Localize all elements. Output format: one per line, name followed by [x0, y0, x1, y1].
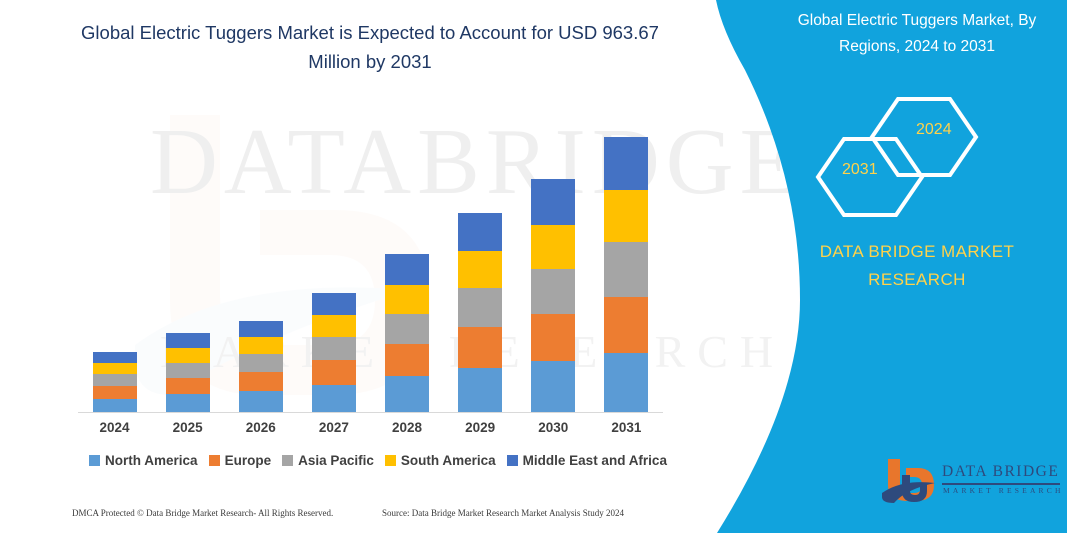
legend-swatch-icon — [385, 455, 396, 466]
x-axis-labels: 20242025202620272028202920302031 — [78, 420, 663, 444]
bar-segment-middle-east-and-africa — [385, 254, 429, 285]
bar-segment-south-america — [385, 285, 429, 314]
bar-segment-north-america — [312, 385, 356, 413]
bar-segment-middle-east-and-africa — [604, 137, 648, 190]
legend-label: Europe — [225, 453, 272, 468]
x-label-2026: 2026 — [225, 420, 297, 435]
brand-line-1: DATA BRIDGE MARKET — [772, 238, 1062, 266]
bar-segment-middle-east-and-africa — [531, 179, 575, 225]
bar-segment-south-america — [93, 363, 137, 374]
company-logo: DATA BRIDGE MARKET RESEARCH — [880, 455, 1067, 515]
bar-segment-asia-pacific — [385, 314, 429, 344]
chart-panel: Global Electric Tuggers Market is Expect… — [0, 0, 740, 533]
bar-segment-middle-east-and-africa — [93, 352, 137, 363]
bar-segment-north-america — [93, 399, 137, 413]
hexagons-icon — [810, 95, 1030, 220]
bar-2031 — [604, 137, 648, 413]
legend-swatch-icon — [89, 455, 100, 466]
x-axis-line — [78, 412, 663, 413]
legend-label: Middle East and Africa — [523, 453, 667, 468]
bar-segment-europe — [531, 314, 575, 361]
hex-2024-label: 2024 — [916, 121, 952, 139]
bar-segment-north-america — [604, 353, 648, 413]
bar-segment-europe — [93, 386, 137, 399]
bar-segment-asia-pacific — [166, 363, 210, 378]
brand-name: DATA BRIDGE MARKET RESEARCH — [772, 238, 1062, 294]
bar-2025 — [166, 333, 210, 413]
bar-2027 — [312, 293, 356, 413]
bar-segment-north-america — [166, 394, 210, 413]
bar-segment-europe — [385, 344, 429, 376]
logo-text-sub: MARKET RESEARCH — [943, 486, 1064, 495]
bar-segment-asia-pacific — [312, 337, 356, 360]
bar-segment-north-america — [239, 391, 283, 413]
bar-segment-south-america — [166, 348, 210, 363]
footer-copyright: DMCA Protected © Data Bridge Market Rese… — [72, 508, 382, 518]
bar-segment-asia-pacific — [93, 374, 137, 386]
x-label-2025: 2025 — [152, 420, 224, 435]
x-label-2030: 2030 — [517, 420, 589, 435]
logo-divider — [942, 483, 1060, 485]
legend-item-north-america[interactable]: North America — [89, 453, 198, 468]
x-label-2031: 2031 — [590, 420, 662, 435]
x-label-2029: 2029 — [444, 420, 516, 435]
data-bridge-b-icon — [880, 455, 938, 505]
footer-source: Source: Data Bridge Market Research Mark… — [382, 508, 692, 518]
legend-swatch-icon — [282, 455, 293, 466]
bar-segment-south-america — [458, 251, 502, 288]
page-title: Global Electric Tuggers Market is Expect… — [60, 18, 680, 76]
bar-2028 — [385, 254, 429, 413]
bar-segment-europe — [604, 297, 648, 353]
bar-2029 — [458, 213, 502, 413]
legend-label: North America — [105, 453, 198, 468]
panel-title: Global Electric Tuggers Market, By Regio… — [772, 8, 1062, 60]
legend-item-south-america[interactable]: South America — [385, 453, 496, 468]
bar-segment-asia-pacific — [458, 288, 502, 327]
chart-legend: North AmericaEuropeAsia PacificSouth Ame… — [78, 453, 678, 468]
bar-segment-middle-east-and-africa — [166, 333, 210, 348]
bar-segment-asia-pacific — [531, 269, 575, 314]
bar-segment-north-america — [385, 376, 429, 413]
bar-segment-south-america — [531, 225, 575, 269]
logo-text-main: DATA BRIDGE — [942, 463, 1059, 481]
infographic-root: DATABRIDGE MARKET RESEARCH Global Electr… — [0, 0, 1067, 533]
legend-swatch-icon — [507, 455, 518, 466]
bar-segment-europe — [239, 372, 283, 391]
bar-segment-south-america — [604, 190, 648, 242]
x-label-2024: 2024 — [79, 420, 151, 435]
bar-segment-europe — [166, 378, 210, 394]
bar-segment-north-america — [458, 368, 502, 413]
legend-item-europe[interactable]: Europe — [209, 453, 272, 468]
bar-2026 — [239, 321, 283, 413]
bar-segment-europe — [312, 360, 356, 385]
legend-item-middle-east-and-africa[interactable]: Middle East and Africa — [507, 453, 667, 468]
panel-content: Global Electric Tuggers Market, By Regio… — [760, 0, 1067, 533]
bar-segment-south-america — [312, 315, 356, 337]
bar-segment-middle-east-and-africa — [239, 321, 283, 337]
brand-line-2: RESEARCH — [772, 266, 1062, 294]
bar-segment-middle-east-and-africa — [312, 293, 356, 315]
legend-item-asia-pacific[interactable]: Asia Pacific — [282, 453, 374, 468]
bar-segment-south-america — [239, 337, 283, 354]
bar-segment-middle-east-and-africa — [458, 213, 502, 251]
hex-2031-label: 2031 — [842, 161, 878, 179]
bar-segment-europe — [458, 327, 502, 368]
legend-label: Asia Pacific — [298, 453, 374, 468]
x-label-2027: 2027 — [298, 420, 370, 435]
legend-label: South America — [401, 453, 496, 468]
stacked-bar-plot — [78, 100, 663, 413]
bar-2030 — [531, 179, 575, 413]
hexagon-group: 2031 2024 — [810, 95, 1030, 220]
bar-segment-asia-pacific — [239, 354, 283, 372]
bar-2024 — [93, 352, 137, 413]
footer: DMCA Protected © Data Bridge Market Rese… — [72, 508, 692, 518]
bar-segment-asia-pacific — [604, 242, 648, 297]
x-label-2028: 2028 — [371, 420, 443, 435]
legend-swatch-icon — [209, 455, 220, 466]
bar-segment-north-america — [531, 361, 575, 413]
